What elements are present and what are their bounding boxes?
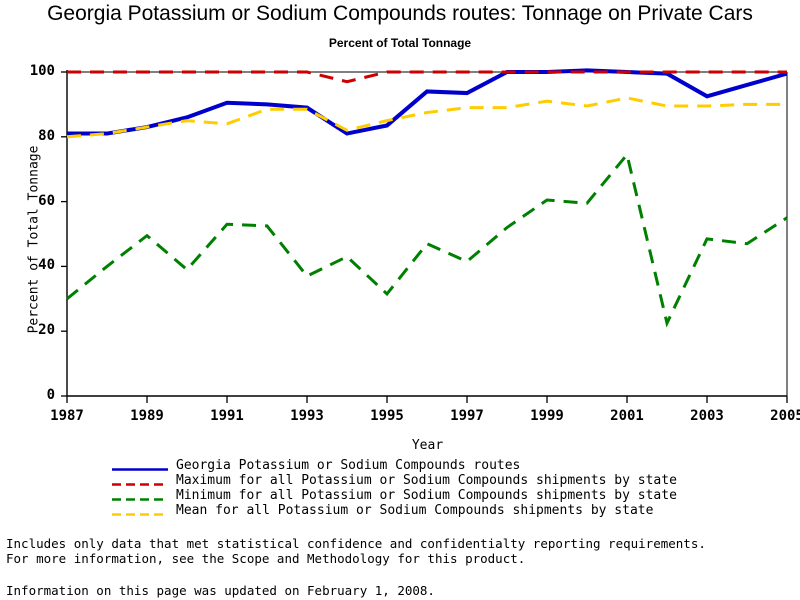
y-tick-label: 0 [7, 387, 55, 403]
y-axis-title: Percent of Total Tonnage [27, 110, 42, 370]
x-tick-label: 2005 [757, 408, 800, 424]
x-tick-label: 1997 [437, 408, 497, 424]
series-line-2 [67, 72, 787, 82]
legend-item-label: Georgia Potassium or Sodium Compounds ro… [176, 458, 520, 473]
x-tick-label: 1995 [357, 408, 417, 424]
x-axis-ticks [67, 396, 787, 403]
legend-item: Maximum for all Potassium or Sodium Comp… [112, 473, 752, 488]
x-axis-title: Year [0, 438, 800, 453]
footnote-block: Includes only data that met statistical … [6, 536, 706, 566]
series-line-4 [67, 98, 787, 137]
chart-page: Georgia Potassium or Sodium Compounds ro… [0, 0, 800, 600]
footnote-line-2: For more information, see the Scope and … [6, 551, 706, 566]
chart-legend: Georgia Potassium or Sodium Compounds ro… [112, 458, 752, 518]
x-tick-label: 1989 [117, 408, 177, 424]
chart-subtitle: Percent of Total Tonnage [0, 36, 800, 50]
legend-item: Georgia Potassium or Sodium Compounds ro… [112, 458, 752, 473]
legend-swatch-mean [112, 505, 168, 516]
legend-swatch-route [112, 460, 168, 471]
footnote-line-1: Includes only data that met statistical … [6, 536, 706, 551]
series-lines [67, 70, 787, 323]
page-title: Georgia Potassium or Sodium Compounds ro… [0, 2, 800, 26]
x-tick-label: 1999 [517, 408, 577, 424]
legend-item: Minimum for all Potassium or Sodium Comp… [112, 488, 752, 503]
legend-item-label: Minimum for all Potassium or Sodium Comp… [176, 488, 677, 503]
x-tick-label: 2001 [597, 408, 657, 424]
legend-swatch-min [112, 490, 168, 501]
legend-swatch-max [112, 475, 168, 486]
x-tick-label: 1993 [277, 408, 337, 424]
legend-item-label: Mean for all Potassium or Sodium Compoun… [176, 503, 653, 518]
x-tick-label: 1991 [197, 408, 257, 424]
legend-item: Mean for all Potassium or Sodium Compoun… [112, 503, 752, 518]
x-tick-label: 1987 [37, 408, 97, 424]
series-line-3 [67, 155, 787, 323]
y-axis-ticks [61, 72, 67, 396]
y-tick-label: 100 [7, 63, 55, 79]
x-tick-label: 2003 [677, 408, 737, 424]
series-line-1 [67, 70, 787, 133]
legend-item-label: Maximum for all Potassium or Sodium Comp… [176, 473, 677, 488]
updated-text: Information on this page was updated on … [6, 583, 435, 598]
